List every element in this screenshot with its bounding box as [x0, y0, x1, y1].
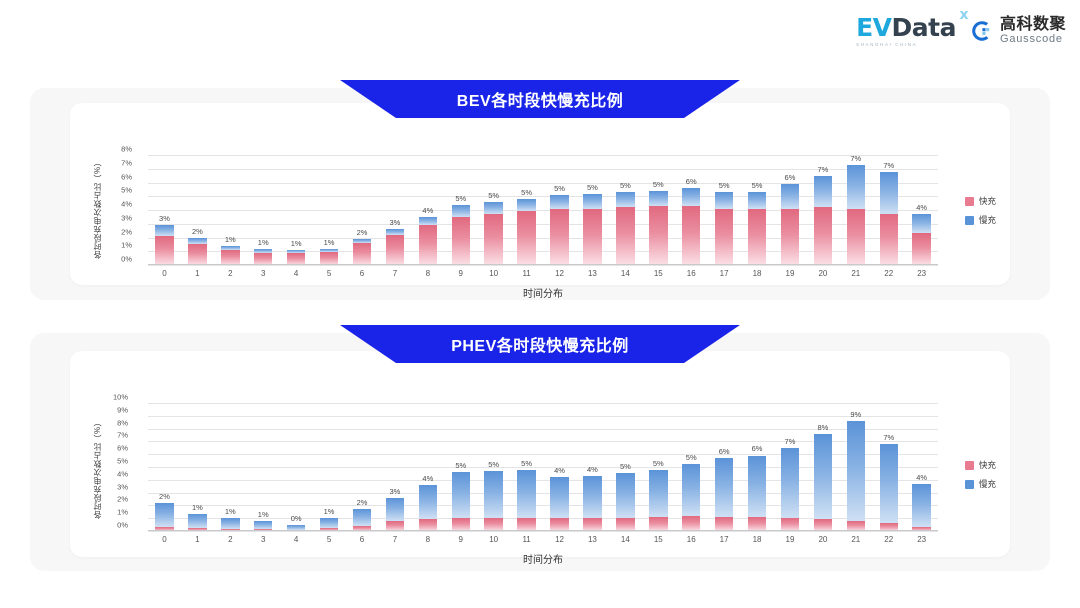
- bar-slot: 7%: [872, 403, 905, 531]
- stacked-bar[interactable]: [715, 192, 733, 265]
- bev-y-axis-ticks: 0%1%2%3%4%5%6%7%8%: [110, 149, 132, 259]
- bar-segment-slow[interactable]: [748, 456, 766, 517]
- bev-x-tick: 6: [346, 269, 379, 278]
- stacked-bar[interactable]: [583, 476, 601, 531]
- bar-segment-fast[interactable]: [748, 517, 766, 531]
- gausscode-cn: 高科数聚: [1000, 17, 1066, 34]
- bar-segment-fast[interactable]: [221, 250, 239, 265]
- bar-segment-fast[interactable]: [550, 209, 568, 265]
- bar-value-label: 0%: [291, 514, 302, 523]
- stacked-bar[interactable]: [155, 225, 173, 265]
- legend-swatch-fast-icon: [965, 461, 974, 470]
- phev-x-tick: 6: [346, 535, 379, 544]
- bar-value-label: 5%: [653, 180, 664, 189]
- stacked-bar[interactable]: [452, 205, 470, 266]
- bar-segment-slow[interactable]: [517, 199, 535, 211]
- bar-value-label: 5%: [587, 183, 598, 192]
- bar-segment-slow[interactable]: [155, 503, 173, 527]
- stacked-bar[interactable]: [517, 199, 535, 265]
- stacked-bar[interactable]: [484, 202, 502, 265]
- stacked-bar[interactable]: [781, 448, 799, 531]
- phev-bars: 2%1%1%1%0%1%2%3%4%5%5%5%4%4%5%5%5%6%6%7%…: [148, 403, 938, 531]
- phev-y-tick: 1%: [117, 508, 128, 517]
- bev-x-tick: 19: [774, 269, 807, 278]
- bar-segment-fast[interactable]: [583, 209, 601, 265]
- bar-segment-fast[interactable]: [517, 518, 535, 531]
- bar-slot: 5%: [609, 403, 642, 531]
- bar-value-label: 4%: [916, 473, 927, 482]
- bev-x-tick: 14: [609, 269, 642, 278]
- bar-slot: 4%: [411, 403, 444, 531]
- bar-slot: 2%: [181, 155, 214, 265]
- bar-value-label: 5%: [488, 460, 499, 469]
- bar-segment-fast[interactable]: [517, 211, 535, 265]
- bar-segment-slow[interactable]: [649, 191, 667, 206]
- phev-banner-title: PHEV各时段快慢充比例: [340, 325, 740, 363]
- legend-item-fast[interactable]: 快充: [965, 195, 996, 207]
- stacked-bar[interactable]: [188, 238, 206, 266]
- bar-slot: 3%: [378, 403, 411, 531]
- bar-segment-slow[interactable]: [781, 448, 799, 518]
- phev-x-tick: 9: [444, 535, 477, 544]
- bar-segment-slow[interactable]: [682, 464, 700, 515]
- bar-value-label: 1%: [192, 503, 203, 512]
- bar-value-label: 7%: [850, 154, 861, 163]
- bar-slot: 1%: [247, 403, 280, 531]
- bar-value-label: 5%: [719, 181, 730, 190]
- phev-x-tick: 12: [543, 535, 576, 544]
- bar-value-label: 5%: [620, 181, 631, 190]
- stacked-bar[interactable]: [583, 194, 601, 266]
- bar-segment-fast[interactable]: [649, 517, 667, 531]
- bev-y-tick: 4%: [121, 200, 132, 209]
- phev-chart: 各时段充电次数占比（%） 0%1%2%3%4%5%6%7%8%9%10% 2%1…: [70, 351, 1010, 557]
- bar-slot: 7%: [774, 403, 807, 531]
- bev-y-tick: 8%: [121, 145, 132, 154]
- bar-value-label: 5%: [554, 184, 565, 193]
- stacked-bar[interactable]: [550, 195, 568, 265]
- bar-value-label: 4%: [916, 203, 927, 212]
- bev-legend: 快充 慢充: [965, 195, 996, 226]
- phev-x-axis-ticks: 01234567891011121314151617181920212223: [148, 535, 938, 544]
- phev-y-tick: 5%: [117, 457, 128, 466]
- phev-x-tick: 20: [806, 535, 839, 544]
- stacked-bar[interactable]: [781, 184, 799, 265]
- bar-value-label: 3%: [389, 487, 400, 496]
- bar-segment-fast[interactable]: [781, 209, 799, 265]
- bar-segment-slow[interactable]: [912, 214, 930, 233]
- bar-slot: 3%: [148, 155, 181, 265]
- bar-slot: 5%: [477, 155, 510, 265]
- stacked-bar[interactable]: [912, 484, 930, 531]
- bar-segment-slow[interactable]: [419, 485, 437, 519]
- stacked-bar[interactable]: [419, 485, 437, 531]
- bar-value-label: 3%: [159, 214, 170, 223]
- gausscode-text: 高科数聚 Gausscode: [1000, 17, 1066, 45]
- bar-slot: 2%: [346, 403, 379, 531]
- bar-segment-slow[interactable]: [649, 470, 667, 517]
- bev-x-tick: 17: [708, 269, 741, 278]
- bar-value-label: 4%: [554, 466, 565, 475]
- bar-segment-fast[interactable]: [781, 518, 799, 531]
- bev-x-tick: 2: [214, 269, 247, 278]
- legend-item-fast[interactable]: 快充: [965, 459, 996, 471]
- bar-slot: 1%: [214, 155, 247, 265]
- legend-label-slow: 慢充: [979, 214, 996, 226]
- phev-y-tick: 0%: [117, 521, 128, 530]
- bar-slot: 5%: [543, 155, 576, 265]
- bar-slot: 5%: [444, 155, 477, 265]
- bar-value-label: 1%: [324, 238, 335, 247]
- bar-segment-slow[interactable]: [912, 484, 930, 527]
- bar-slot: 7%: [872, 155, 905, 265]
- bar-segment-slow[interactable]: [386, 498, 404, 522]
- bar-value-label: 1%: [258, 238, 269, 247]
- phev-axis-baseline: [148, 530, 938, 531]
- legend-label-fast: 快充: [979, 195, 996, 207]
- phev-y-tick: 4%: [117, 469, 128, 478]
- phev-y-axis-ticks: 0%1%2%3%4%5%6%7%8%9%10%: [106, 397, 128, 525]
- phev-gridline: [148, 531, 938, 532]
- evdata-wordmark: EVDatax: [856, 15, 956, 40]
- bar-segment-slow[interactable]: [847, 421, 865, 521]
- bar-slot: 4%: [905, 155, 938, 265]
- phev-legend: 快充 慢充: [965, 459, 996, 490]
- bev-y-tick: 2%: [121, 227, 132, 236]
- bar-slot: 1%: [280, 155, 313, 265]
- gausscode-logo: 高科数聚 Gausscode: [970, 17, 1066, 45]
- bar-segment-fast[interactable]: [682, 516, 700, 531]
- stacked-bar[interactable]: [188, 514, 206, 531]
- bar-segment-slow[interactable]: [484, 202, 502, 214]
- stacked-bar[interactable]: [287, 250, 305, 265]
- evdata-suffix: Data: [892, 13, 956, 42]
- bar-segment-fast[interactable]: [748, 209, 766, 265]
- bar-slot: 1%: [313, 403, 346, 531]
- bar-segment-fast[interactable]: [715, 517, 733, 531]
- bar-segment-slow[interactable]: [452, 205, 470, 217]
- legend-swatch-slow-icon: [965, 216, 974, 225]
- phev-x-tick: 22: [872, 535, 905, 544]
- phev-panel: 各时段充电次数占比（%） 0%1%2%3%4%5%6%7%8%9%10% 2%1…: [30, 333, 1050, 571]
- phev-x-tick: 17: [708, 535, 741, 544]
- legend-label-slow: 慢充: [979, 478, 996, 490]
- bar-segment-fast[interactable]: [386, 235, 404, 265]
- bar-value-label: 1%: [225, 507, 236, 516]
- bar-value-label: 1%: [324, 507, 335, 516]
- bev-y-tick: 1%: [121, 241, 132, 250]
- stacked-bar[interactable]: [155, 503, 173, 531]
- stacked-bar[interactable]: [715, 458, 733, 531]
- phev-y-tick: 8%: [117, 418, 128, 427]
- bar-segment-fast[interactable]: [912, 233, 930, 265]
- phev-x-tick: 21: [839, 535, 872, 544]
- bar-slot: 8%: [806, 403, 839, 531]
- bar-segment-slow[interactable]: [880, 172, 898, 215]
- bar-slot: 3%: [378, 155, 411, 265]
- bar-segment-fast[interactable]: [682, 206, 700, 265]
- stacked-bar[interactable]: [353, 239, 371, 265]
- legend-item-slow[interactable]: 慢充: [965, 214, 996, 226]
- bar-value-label: 5%: [752, 181, 763, 190]
- stacked-bar[interactable]: [880, 172, 898, 266]
- stacked-bar[interactable]: [517, 470, 535, 531]
- bev-x-tick: 10: [477, 269, 510, 278]
- bar-slot: 1%: [214, 403, 247, 531]
- bar-segment-fast[interactable]: [649, 206, 667, 265]
- bev-panel: 各时段充电次数占比（%） 0%1%2%3%4%5%6%7%8% 3%2%1%1%…: [30, 88, 1050, 300]
- bar-value-label: 5%: [686, 453, 697, 462]
- bar-segment-slow[interactable]: [616, 192, 634, 207]
- bar-segment-slow[interactable]: [550, 195, 568, 209]
- stacked-bar[interactable]: [814, 434, 832, 531]
- bar-slot: 5%: [609, 155, 642, 265]
- bev-x-tick: 7: [378, 269, 411, 278]
- bar-value-label: 7%: [883, 433, 894, 442]
- bar-segment-slow[interactable]: [419, 217, 437, 225]
- phev-x-tick: 8: [411, 535, 444, 544]
- bar-value-label: 4%: [422, 474, 433, 483]
- bar-segment-slow[interactable]: [353, 509, 371, 526]
- bar-segment-slow[interactable]: [814, 434, 832, 519]
- stacked-bar[interactable]: [912, 214, 930, 265]
- bev-bars: 3%2%1%1%1%1%2%3%4%5%5%5%5%5%5%5%6%5%5%6%…: [148, 155, 938, 265]
- stacked-bar[interactable]: [649, 470, 667, 531]
- bar-value-label: 7%: [883, 161, 894, 170]
- stacked-bar[interactable]: [484, 471, 502, 531]
- bar-segment-slow[interactable]: [583, 476, 601, 518]
- bar-segment-fast[interactable]: [880, 214, 898, 265]
- phev-y-tick: 9%: [117, 405, 128, 414]
- bev-y-axis-label: 各时段充电次数占比（%）: [92, 149, 103, 259]
- legend-item-slow[interactable]: 慢充: [965, 478, 996, 490]
- bar-segment-slow[interactable]: [517, 470, 535, 518]
- stacked-bar[interactable]: [386, 229, 404, 265]
- bev-banner-title: BEV各时段快慢充比例: [340, 80, 740, 118]
- phev-x-tick: 4: [280, 535, 313, 544]
- phev-x-tick: 15: [642, 535, 675, 544]
- bev-y-tick: 0%: [121, 255, 132, 264]
- stacked-bar[interactable]: [550, 477, 568, 531]
- stacked-bar[interactable]: [880, 444, 898, 531]
- evdata-subtitle: shanghai china: [856, 43, 917, 48]
- phev-x-tick: 2: [214, 535, 247, 544]
- bar-segment-slow[interactable]: [484, 471, 502, 518]
- bar-segment-slow[interactable]: [452, 472, 470, 518]
- bar-segment-slow[interactable]: [814, 176, 832, 208]
- page-header: EVDatax shanghai china 高科数聚 Gausscode: [0, 0, 1080, 62]
- bar-segment-fast[interactable]: [452, 217, 470, 265]
- bar-slot: 6%: [675, 155, 708, 265]
- bev-x-tick: 18: [741, 269, 774, 278]
- stacked-bar[interactable]: [616, 473, 634, 531]
- phev-x-tick: 19: [774, 535, 807, 544]
- bev-x-tick: 13: [576, 269, 609, 278]
- bev-x-tick: 12: [543, 269, 576, 278]
- bar-value-label: 1%: [258, 510, 269, 519]
- bar-segment-slow[interactable]: [715, 192, 733, 209]
- bar-slot: 6%: [708, 403, 741, 531]
- bar-slot: 2%: [346, 155, 379, 265]
- stacked-bar[interactable]: [616, 192, 634, 265]
- bev-x-tick: 3: [247, 269, 280, 278]
- bar-segment-slow[interactable]: [583, 194, 601, 209]
- bev-y-tick: 3%: [121, 213, 132, 222]
- bar-segment-slow[interactable]: [188, 514, 206, 528]
- bev-x-tick: 22: [872, 269, 905, 278]
- legend-swatch-slow-icon: [965, 480, 974, 489]
- bev-x-tick: 21: [839, 269, 872, 278]
- phev-x-tick: 14: [609, 535, 642, 544]
- phev-x-tick: 1: [181, 535, 214, 544]
- bar-slot: 0%: [280, 403, 313, 531]
- legend-label-fast: 快充: [979, 459, 996, 471]
- bar-segment-fast[interactable]: [814, 207, 832, 265]
- bar-slot: 5%: [510, 403, 543, 531]
- stacked-bar[interactable]: [682, 188, 700, 265]
- bev-x-tick: 9: [444, 269, 477, 278]
- evdata-logo: EVDatax shanghai china: [856, 15, 956, 48]
- bar-segment-slow[interactable]: [715, 458, 733, 517]
- bar-segment-slow[interactable]: [254, 521, 272, 529]
- bar-value-label: 3%: [389, 218, 400, 227]
- bar-slot: 5%: [642, 155, 675, 265]
- bar-segment-slow[interactable]: [188, 238, 206, 245]
- stacked-bar[interactable]: [386, 498, 404, 531]
- bev-chart: 各时段充电次数占比（%） 0%1%2%3%4%5%6%7%8% 3%2%1%1%…: [70, 103, 1010, 285]
- bar-segment-slow[interactable]: [221, 518, 239, 528]
- phev-chart-card: 各时段充电次数占比（%） 0%1%2%3%4%5%6%7%8%9%10% 2%1…: [70, 351, 1010, 557]
- stacked-bar[interactable]: [748, 455, 766, 531]
- evdata-superscript-icon: x: [959, 8, 968, 22]
- bar-segment-slow[interactable]: [880, 444, 898, 523]
- bev-x-tick: 23: [905, 269, 938, 278]
- phev-x-tick: 0: [148, 535, 181, 544]
- bar-value-label: 1%: [225, 235, 236, 244]
- bar-slot: 2%: [148, 403, 181, 531]
- bar-slot: 4%: [411, 155, 444, 265]
- bar-slot: 6%: [741, 403, 774, 531]
- phev-y-axis-label: 各时段充电次数占比（%）: [92, 391, 103, 519]
- bev-y-tick: 6%: [121, 172, 132, 181]
- bar-segment-fast[interactable]: [353, 243, 371, 265]
- phev-x-tick: 11: [510, 535, 543, 544]
- bar-segment-slow[interactable]: [320, 518, 338, 528]
- bar-value-label: 5%: [455, 461, 466, 470]
- bar-segment-slow[interactable]: [748, 192, 766, 209]
- stacked-bar[interactable]: [682, 464, 700, 531]
- bev-chart-card: 各时段充电次数占比（%） 0%1%2%3%4%5%6%7%8% 3%2%1%1%…: [70, 103, 1010, 285]
- bev-y-tick: 5%: [121, 186, 132, 195]
- stacked-bar[interactable]: [419, 217, 437, 265]
- stacked-bar[interactable]: [649, 191, 667, 265]
- bar-slot: 4%: [543, 403, 576, 531]
- bar-slot: 4%: [905, 403, 938, 531]
- bev-x-tick: 8: [411, 269, 444, 278]
- bev-x-tick: 5: [313, 269, 346, 278]
- bar-segment-fast[interactable]: [847, 209, 865, 265]
- stacked-bar[interactable]: [254, 249, 272, 266]
- bar-segment-fast[interactable]: [188, 244, 206, 265]
- bar-segment-slow[interactable]: [847, 165, 865, 209]
- bar-slot: 7%: [839, 155, 872, 265]
- bev-x-axis-ticks: 01234567891011121314151617181920212223: [148, 269, 938, 278]
- bar-segment-fast[interactable]: [616, 207, 634, 265]
- bev-x-axis-label: 时间分布: [148, 285, 938, 300]
- bar-segment-slow[interactable]: [682, 188, 700, 206]
- bev-x-tick: 15: [642, 269, 675, 278]
- bev-x-tick: 20: [806, 269, 839, 278]
- bar-segment-slow[interactable]: [781, 184, 799, 209]
- phev-y-tick: 3%: [117, 482, 128, 491]
- bar-segment-fast[interactable]: [715, 209, 733, 265]
- bar-value-label: 6%: [686, 177, 697, 186]
- stacked-bar[interactable]: [320, 249, 338, 266]
- bar-value-label: 5%: [521, 459, 532, 468]
- legend-swatch-fast-icon: [965, 197, 974, 206]
- bar-segment-slow[interactable]: [616, 473, 634, 518]
- phev-x-tick: 13: [576, 535, 609, 544]
- bar-slot: 5%: [444, 403, 477, 531]
- bar-slot: 5%: [675, 403, 708, 531]
- gausscode-mark-icon: [970, 19, 994, 43]
- bar-slot: 7%: [806, 155, 839, 265]
- stacked-bar[interactable]: [814, 176, 832, 265]
- stacked-bar[interactable]: [748, 192, 766, 265]
- phev-x-tick: 10: [477, 535, 510, 544]
- bar-segment-fast[interactable]: [155, 236, 173, 265]
- bev-x-tick: 4: [280, 269, 313, 278]
- bev-axis-baseline: [148, 264, 938, 265]
- bar-slot: 9%: [839, 403, 872, 531]
- bev-plot-area: 3%2%1%1%1%1%2%3%4%5%5%5%5%5%5%5%6%5%5%6%…: [148, 155, 938, 265]
- bar-slot: 1%: [181, 403, 214, 531]
- bar-value-label: 5%: [455, 194, 466, 203]
- bar-slot: 1%: [247, 155, 280, 265]
- phev-x-tick: 3: [247, 535, 280, 544]
- bar-value-label: 9%: [850, 410, 861, 419]
- phev-x-tick: 18: [741, 535, 774, 544]
- bar-value-label: 1%: [291, 239, 302, 248]
- stacked-bar[interactable]: [353, 509, 371, 531]
- phev-y-tick: 10%: [113, 393, 128, 402]
- bar-slot: 5%: [510, 155, 543, 265]
- bev-x-tick: 16: [675, 269, 708, 278]
- bev-x-tick: 11: [510, 269, 543, 278]
- stacked-bar[interactable]: [847, 165, 865, 265]
- phev-x-tick: 23: [905, 535, 938, 544]
- stacked-bar[interactable]: [221, 246, 239, 265]
- bar-value-label: 2%: [192, 227, 203, 236]
- phev-x-tick: 5: [313, 535, 346, 544]
- phev-x-tick: 7: [378, 535, 411, 544]
- bev-gridline: [148, 265, 938, 266]
- bar-value-label: 5%: [488, 191, 499, 200]
- bar-slot: 5%: [576, 155, 609, 265]
- bar-value-label: 6%: [752, 444, 763, 453]
- bar-segment-slow[interactable]: [155, 225, 173, 236]
- bar-segment-slow[interactable]: [550, 477, 568, 518]
- phev-y-tick: 7%: [117, 431, 128, 440]
- bar-value-label: 6%: [785, 173, 796, 182]
- stacked-bar[interactable]: [847, 421, 865, 531]
- stacked-bar[interactable]: [452, 472, 470, 531]
- bar-segment-fast[interactable]: [419, 225, 437, 265]
- bar-value-label: 7%: [785, 437, 796, 446]
- bar-segment-fast[interactable]: [484, 214, 502, 265]
- bar-value-label: 5%: [521, 188, 532, 197]
- bar-slot: 6%: [774, 155, 807, 265]
